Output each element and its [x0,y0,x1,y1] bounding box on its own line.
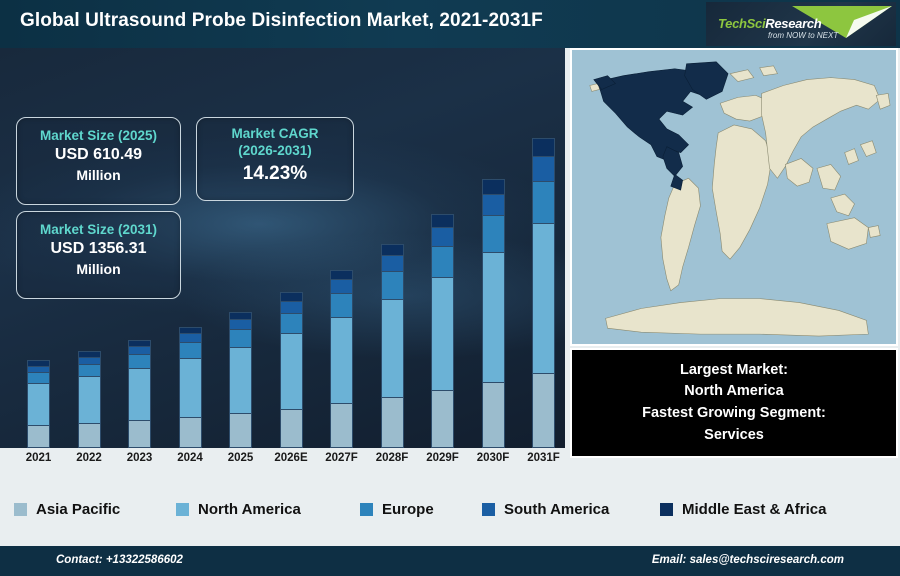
bar-segment-middle-east-africa [431,214,454,227]
legend-label: Europe [382,501,434,518]
kpi-value: USD 1356.31 [17,239,180,260]
bar-segment-middle-east-africa [532,138,555,156]
bar-segment-europe [27,372,50,383]
kpi-card-market-cagr: Market CAGR (2026-2031) 14.23% [196,117,354,201]
bar-segment-asia-pacific [179,417,202,448]
bar-segment-europe [78,364,101,376]
bar-segment-europe [532,181,555,223]
bar-segment-asia-pacific [27,425,50,448]
legend-swatch-icon [660,503,673,516]
bar-2025[interactable] [229,312,252,448]
bar-segment-north-america [78,376,101,423]
bar-segment-south-america [330,279,353,293]
bar-segment-middle-east-africa [330,270,353,280]
bar-segment-south-america [532,156,555,181]
bar-segment-europe [482,215,505,252]
logo-tagline: from NOW to NEXT [768,31,838,40]
bar-segment-europe [330,293,353,317]
largest-market-label: Largest Market: [680,360,788,382]
bar-segment-asia-pacific [229,413,252,448]
bar-segment-europe [229,329,252,347]
bar-segment-north-america [381,299,404,398]
bar-2022[interactable] [78,351,101,448]
kpi-value: USD 610.49 [17,145,180,166]
bar-2024[interactable] [179,327,202,448]
bar-segment-south-america [229,319,252,329]
bar-segment-south-america [381,255,404,271]
kpi-subtitle: (2026-2031) [197,143,353,160]
bar-2021[interactable] [27,360,50,448]
kpi-title: Market Size (2031) [17,222,180,239]
techsci-research-logo[interactable]: TechSciResearch from NOW to NEXT [706,2,896,46]
bar-segment-south-america [431,227,454,246]
bar-2029F[interactable] [431,214,454,448]
header-bar: Global Ultrasound Probe Disinfection Mar… [0,0,900,48]
chart-legend: Asia PacificNorth AmericaEuropeSouth Ame… [0,474,900,546]
kpi-title: Market CAGR [197,126,353,143]
x-axis-label-2031F: 2031F [514,452,574,464]
page-title: Global Ultrasound Probe Disinfection Mar… [20,10,543,32]
bar-segment-asia-pacific [330,403,353,448]
footer-bar: Contact: +13322586602 Email: sales@techs… [0,546,900,576]
bar-segment-europe [128,354,151,368]
logo-name-part2: Research [765,16,821,31]
logo-name-part1: TechSci [718,16,765,31]
bar-segment-middle-east-africa [280,292,303,300]
world-map [570,48,898,346]
kpi-unit: Million [17,260,180,278]
bar-segment-north-america [128,368,151,421]
fastest-segment-value: Services [704,425,764,447]
bar-segment-middle-east-africa [229,312,252,319]
bar-2027F[interactable] [330,270,353,448]
legend-label: Middle East & Africa [682,501,826,518]
legend-swatch-icon [360,503,373,516]
bar-segment-asia-pacific [532,373,555,448]
bar-segment-south-america [280,301,303,313]
bar-segment-europe [381,271,404,298]
legend-label: South America [504,501,609,518]
bar-segment-europe [179,342,202,358]
bar-segment-asia-pacific [482,382,505,448]
bar-2031F[interactable] [532,138,555,448]
legend-item-south-america[interactable]: South America [482,501,609,518]
bar-segment-north-america [482,252,505,382]
bar-segment-north-america [532,223,555,373]
bar-segment-north-america [330,317,353,403]
world-map-svg [572,50,896,344]
bar-2026E[interactable] [280,292,303,448]
legend-label: Asia Pacific [36,501,120,518]
bar-segment-asia-pacific [280,409,303,448]
logo-wordmark: TechSciResearch [718,16,821,31]
bar-2023[interactable] [128,340,151,448]
bar-segment-north-america [280,333,303,408]
bar-segment-south-america [179,333,202,342]
kpi-card-market-size-2031: Market Size (2031) USD 1356.31 Million [16,211,181,299]
bar-2028F[interactable] [381,244,404,448]
kpi-card-market-size-2025: Market Size (2025) USD 610.49 Million [16,117,181,205]
chart-panel: Market Size (2025) USD 610.49 Million Ma… [0,48,565,448]
bar-segment-middle-east-africa [482,179,505,194]
x-axis: 202120222023202420252026E2027F2028F2029F… [0,448,565,474]
legend-swatch-icon [482,503,495,516]
bar-segment-asia-pacific [431,390,454,448]
legend-swatch-icon [176,503,189,516]
bar-segment-europe [280,313,303,334]
bar-segment-asia-pacific [128,420,151,448]
kpi-value: 14.23% [197,162,353,187]
bar-segment-asia-pacific [78,423,101,448]
legend-swatch-icon [14,503,27,516]
legend-item-north-america[interactable]: North America [176,501,301,518]
legend-label: North America [198,501,301,518]
bar-segment-south-america [482,194,505,215]
fastest-segment-label: Fastest Growing Segment: [642,403,826,425]
bar-segment-north-america [229,347,252,413]
bar-segment-south-america [78,357,101,364]
bar-segment-asia-pacific [381,397,404,448]
bar-2030F[interactable] [482,179,505,448]
bar-segment-north-america [431,277,454,390]
legend-item-asia-pacific[interactable]: Asia Pacific [14,501,120,518]
legend-item-europe[interactable]: Europe [360,501,434,518]
bar-segment-north-america [27,383,50,425]
bar-segment-north-america [179,358,202,417]
bar-segment-south-america [128,346,151,354]
footer-contact: Contact: +13322586602 [56,554,183,566]
infographic-root: Global Ultrasound Probe Disinfection Mar… [0,0,900,576]
largest-market-value: North America [684,381,783,403]
bar-segment-europe [431,246,454,278]
legend-item-middle-east-africa[interactable]: Middle East & Africa [660,501,826,518]
kpi-unit: Million [17,166,180,184]
market-highlight-box: Largest Market: North America Fastest Gr… [570,348,898,458]
footer-email: Email: sales@techsciresearch.com [652,554,844,566]
kpi-title: Market Size (2025) [17,128,180,145]
bar-segment-middle-east-africa [381,244,404,255]
